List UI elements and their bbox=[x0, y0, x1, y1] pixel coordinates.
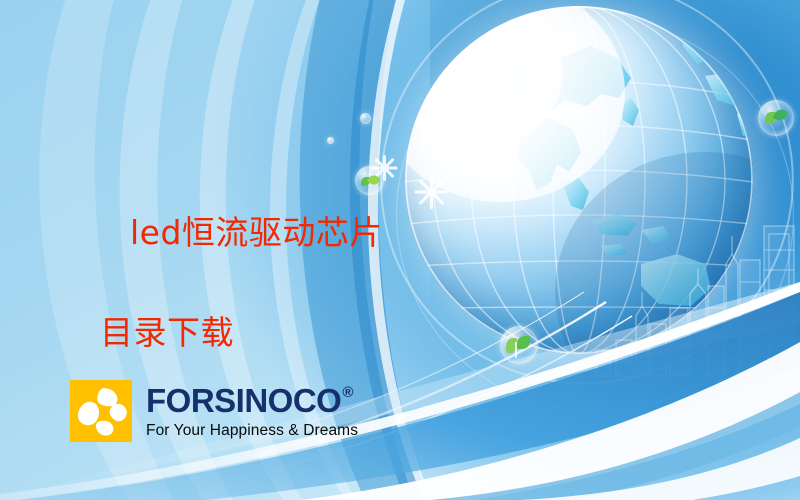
banner-slide: led恒流驱动芯片 目录下载 FORSINOCO ® For Your Happ… bbox=[0, 0, 800, 500]
world-globe-icon bbox=[405, 6, 753, 354]
bubble-icon bbox=[758, 100, 794, 136]
bubble-icon bbox=[327, 137, 334, 144]
brand-name-row: FORSINOCO ® bbox=[146, 384, 358, 417]
globe-sphere bbox=[405, 6, 753, 354]
registered-trademark-icon: ® bbox=[342, 385, 353, 400]
brand-logo[interactable]: FORSINOCO ® For Your Happiness & Dreams bbox=[70, 380, 358, 442]
flower-asterisk-icon bbox=[417, 130, 435, 148]
headline-line-2: 目录下载 bbox=[86, 308, 416, 358]
pinwheel-flower-icon bbox=[70, 380, 132, 442]
headline-line-1: led恒流驱动芯片 bbox=[130, 213, 383, 252]
brand-tagline: For Your Happiness & Dreams bbox=[146, 423, 358, 439]
brand-name: FORSINOCO bbox=[146, 384, 341, 417]
flower-asterisk-icon bbox=[414, 175, 448, 209]
bubble-icon bbox=[360, 113, 371, 124]
bubble-icon bbox=[500, 326, 538, 364]
brand-text: FORSINOCO ® For Your Happiness & Dreams bbox=[146, 384, 358, 439]
